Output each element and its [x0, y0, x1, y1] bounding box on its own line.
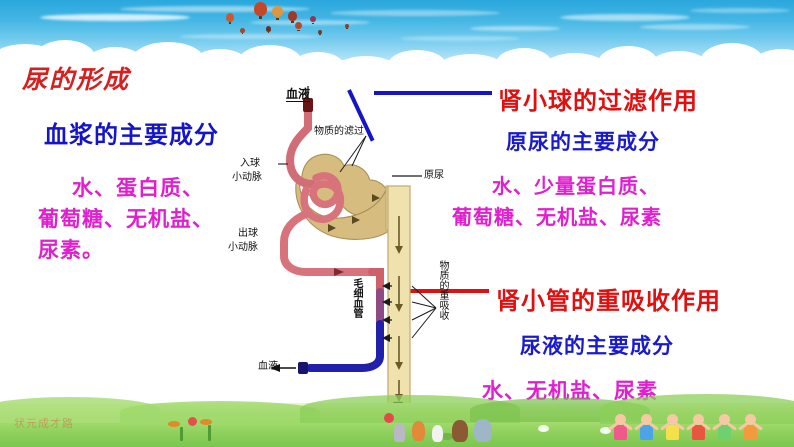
hot-air-balloon-icon	[310, 16, 316, 24]
nephron-diagram: 血液 入球 小动脉 物质的滤过 原尿 出球 小动脉 毛细血管 物质的重吸收 血液…	[240, 80, 510, 425]
diagram-label-afferent-arteriole-line2: 小动脉	[232, 172, 262, 184]
child-figure	[612, 414, 629, 444]
hot-air-balloon-icon	[295, 22, 302, 31]
primary-urine-heading: 原尿的主要成分	[506, 126, 660, 156]
child-figure	[638, 414, 655, 444]
hot-air-balloon-icon	[240, 28, 245, 34]
flower-icon	[538, 425, 549, 432]
slide-canvas: 尿的形成 血浆的主要成分 水、蛋白质、 葡萄糖、无机盐、 尿素。 肾小球的过滤作…	[0, 0, 794, 447]
flower-icon	[208, 425, 211, 441]
urine-heading: 尿液的主要成分	[520, 330, 674, 360]
animal-icon-bear	[452, 420, 468, 442]
nephron-svg	[240, 80, 510, 425]
plasma-components-line2: 葡萄糖、无机盐、	[38, 203, 214, 233]
grass-footer-image: 状元成才路	[0, 403, 794, 447]
child-figure	[742, 414, 759, 444]
watermark-text: 状元成才路	[14, 415, 74, 431]
page-title: 尿的形成	[22, 60, 130, 96]
animal-icon-elephant	[474, 419, 492, 442]
animal-icon-rabbit	[432, 425, 443, 442]
flower-icon	[188, 417, 197, 426]
hot-air-balloon-icon	[254, 2, 267, 19]
hot-air-balloon-icon	[272, 6, 283, 20]
hot-air-balloon-icon	[318, 30, 322, 35]
diagram-label-reabsorption: 物质的重吸收	[436, 260, 449, 366]
leaf-icon	[168, 421, 180, 427]
venule-vessel	[310, 324, 380, 368]
animal-icon-child-gray	[394, 423, 405, 442]
reabsorption-fan-leader	[412, 286, 436, 338]
plasma-components-line3: 尿素。	[38, 234, 104, 264]
diagram-label-efferent-arteriole-line2: 小动脉	[228, 242, 258, 254]
leaf-icon	[200, 419, 212, 425]
diagram-label-filtration: 物质的滤过	[314, 126, 364, 138]
hot-air-balloon-icon	[226, 13, 234, 24]
diagram-label-blood-in: 血液	[286, 88, 310, 102]
child-figure	[716, 414, 733, 444]
tubular-reabsorption-label: 肾小管的重吸收作用	[496, 281, 721, 316]
animal-icon-fox	[412, 421, 425, 441]
child-figure	[664, 414, 681, 444]
child-figure	[690, 414, 707, 444]
diagram-label-blood-out: 血液	[258, 361, 278, 373]
plasma-heading: 血浆的主要成分	[44, 115, 219, 150]
diagram-label-afferent-arteriole-line1: 入球	[240, 158, 260, 170]
plasma-components-line1: 水、蛋白质、	[72, 172, 204, 202]
diagram-label-capillary: 毛细血管	[350, 278, 363, 354]
diagram-label-primary-urine: 原尿	[424, 170, 444, 182]
hot-air-balloon-icon	[266, 26, 271, 33]
primary-urine-components-line1: 水、少量蛋白质、	[492, 170, 660, 199]
diagram-label-efferent-arteriole-line1: 出球	[238, 228, 258, 240]
hot-air-balloon-icon	[345, 24, 349, 29]
flower-icon	[180, 427, 183, 441]
glomerular-filtration-label: 肾小球的过滤作用	[498, 81, 698, 116]
flower-icon	[384, 413, 394, 423]
